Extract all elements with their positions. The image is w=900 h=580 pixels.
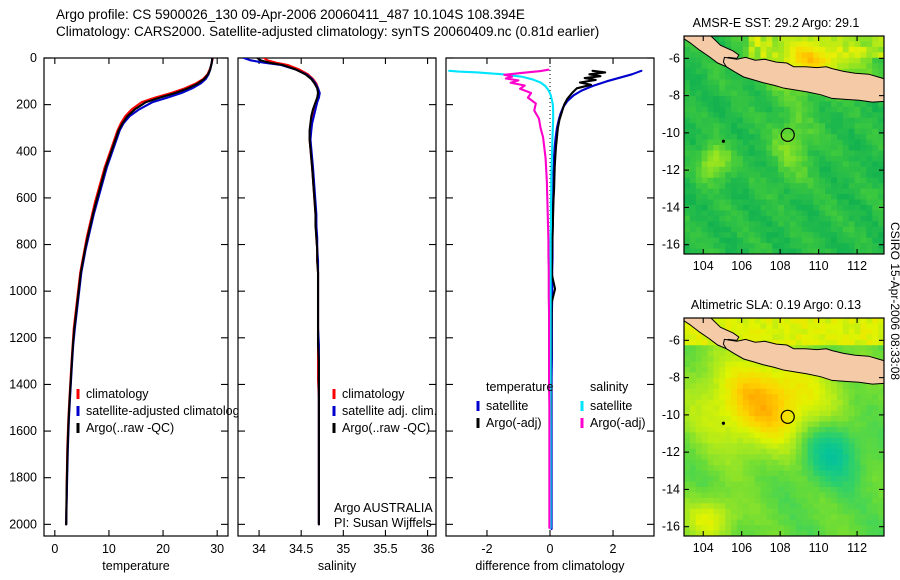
field-cell xyxy=(772,216,778,222)
field-cell xyxy=(872,323,878,329)
field-cell xyxy=(808,58,814,64)
field-cell xyxy=(760,41,766,47)
field-cell xyxy=(766,227,772,233)
field-cell xyxy=(860,416,866,422)
field-cell xyxy=(702,389,708,395)
field-cell xyxy=(708,454,714,460)
field-cell xyxy=(760,520,766,526)
field-cell xyxy=(778,525,784,531)
field-cell xyxy=(684,69,690,75)
field-cell xyxy=(696,422,702,428)
field-cell xyxy=(790,465,796,471)
field-cell xyxy=(708,194,714,200)
field-cell xyxy=(708,373,714,379)
field-cell xyxy=(708,145,714,151)
field-cell xyxy=(860,394,866,400)
field-cell xyxy=(872,416,878,422)
field-cell xyxy=(743,41,749,47)
map-y-tick-label: -14 xyxy=(662,482,680,496)
field-cell xyxy=(772,525,778,531)
field-cell xyxy=(849,134,855,140)
field-cell xyxy=(831,101,837,107)
field-cell xyxy=(749,514,755,520)
field-cell xyxy=(866,36,872,42)
field-cell xyxy=(725,492,731,498)
field-cell xyxy=(719,383,725,389)
field-cell xyxy=(755,52,761,58)
field-cell xyxy=(713,140,719,146)
field-cell xyxy=(690,378,696,384)
field-cell xyxy=(696,416,702,422)
field-cell xyxy=(743,405,749,411)
field-cell xyxy=(849,432,855,438)
field-cell xyxy=(860,427,866,433)
field-cell xyxy=(855,334,861,340)
field-cell xyxy=(872,167,878,173)
field-cell xyxy=(813,416,819,422)
field-cell xyxy=(737,91,743,97)
field-cell xyxy=(849,318,855,324)
field-cell xyxy=(702,91,708,97)
field-cell xyxy=(749,503,755,509)
field-cell xyxy=(731,145,737,151)
field-cell xyxy=(760,221,766,227)
field-cell xyxy=(872,443,878,449)
field-cell xyxy=(731,476,737,482)
field-cell xyxy=(831,422,837,428)
field-cell xyxy=(808,232,814,238)
field-cell xyxy=(749,323,755,329)
x-axis-label: temperature xyxy=(102,559,169,573)
field-cell xyxy=(737,383,743,389)
field-cell xyxy=(849,427,855,433)
field-cell xyxy=(731,465,737,471)
field-cell xyxy=(690,362,696,368)
field-cell xyxy=(855,210,861,216)
field-cell xyxy=(855,41,861,47)
field-cell xyxy=(796,323,802,329)
field-cell xyxy=(866,63,872,69)
field-cell xyxy=(766,422,772,428)
field-cell xyxy=(825,416,831,422)
field-cell xyxy=(819,145,825,151)
field-cell xyxy=(802,427,808,433)
field-cell xyxy=(719,443,725,449)
field-cell xyxy=(849,194,855,200)
field-cell xyxy=(731,227,737,233)
field-cell xyxy=(743,443,749,449)
field-cell xyxy=(690,449,696,455)
field-cell xyxy=(831,323,837,329)
field-cell xyxy=(831,118,837,124)
field-cell xyxy=(849,47,855,53)
field-cell xyxy=(743,449,749,455)
field-cell xyxy=(825,232,831,238)
field-cell xyxy=(813,189,819,195)
field-cell xyxy=(819,432,825,438)
field-cell xyxy=(825,520,831,526)
field-cell xyxy=(696,476,702,482)
field-cell xyxy=(860,411,866,417)
field-cell xyxy=(702,487,708,493)
field-cell xyxy=(731,323,737,329)
field-cell xyxy=(719,487,725,493)
field-cell xyxy=(778,449,784,455)
field-cell xyxy=(784,183,790,189)
field-cell xyxy=(872,465,878,471)
field-cell xyxy=(837,329,843,335)
field-cell xyxy=(749,161,755,167)
field-cell xyxy=(837,210,843,216)
field-cell xyxy=(737,96,743,102)
field-cell xyxy=(755,422,761,428)
field-cell xyxy=(731,123,737,129)
field-cell xyxy=(872,200,878,206)
field-cell xyxy=(802,416,808,422)
field-cell xyxy=(708,210,714,216)
field-cell xyxy=(796,460,802,466)
field-cell xyxy=(725,367,731,373)
field-cell xyxy=(831,334,837,340)
field-cell xyxy=(731,36,737,42)
field-cell xyxy=(831,161,837,167)
field-cell xyxy=(872,400,878,406)
field-cell xyxy=(808,318,814,324)
field-cell xyxy=(831,178,837,184)
field-cell xyxy=(737,232,743,238)
field-cell xyxy=(819,140,825,146)
field-cell xyxy=(725,454,731,460)
field-cell xyxy=(760,47,766,53)
field-cell xyxy=(731,41,737,47)
field-cell xyxy=(802,150,808,156)
field-cell xyxy=(849,514,855,520)
field-cell xyxy=(743,416,749,422)
field-cell xyxy=(790,232,796,238)
field-cell xyxy=(737,85,743,91)
field-cell xyxy=(843,514,849,520)
field-cell xyxy=(813,205,819,211)
field-cell xyxy=(702,460,708,466)
field-cell xyxy=(719,482,725,488)
field-cell xyxy=(708,356,714,362)
field-cell xyxy=(743,378,749,384)
field-cell xyxy=(708,482,714,488)
field-cell xyxy=(708,129,714,135)
field-cell xyxy=(784,329,790,335)
field-cell xyxy=(749,465,755,471)
field-cell xyxy=(778,487,784,493)
field-cell xyxy=(784,400,790,406)
field-cell xyxy=(796,340,802,346)
field-cell xyxy=(737,178,743,184)
field-cell xyxy=(702,96,708,102)
field-cell xyxy=(784,525,790,531)
field-cell xyxy=(860,389,866,395)
field-cell xyxy=(849,200,855,206)
field-cell xyxy=(796,140,802,146)
field-cell xyxy=(778,221,784,227)
field-cell xyxy=(784,205,790,211)
field-cell xyxy=(772,378,778,384)
field-cell xyxy=(690,112,696,118)
field-cell xyxy=(690,232,696,238)
field-cell xyxy=(749,318,755,324)
field-cell xyxy=(837,383,843,389)
field-cell xyxy=(802,476,808,482)
field-cell xyxy=(866,460,872,466)
field-cell xyxy=(843,58,849,64)
field-cell xyxy=(790,482,796,488)
field-cell xyxy=(731,394,737,400)
field-cell xyxy=(784,394,790,400)
field-cell xyxy=(696,383,702,389)
field-cell xyxy=(690,47,696,53)
field-cell xyxy=(860,156,866,162)
field-cell xyxy=(766,210,772,216)
field-cell xyxy=(808,378,814,384)
field-cell xyxy=(837,238,843,244)
field-cell xyxy=(837,221,843,227)
field-cell xyxy=(843,334,849,340)
field-cell xyxy=(866,422,872,428)
field-cell xyxy=(766,118,772,124)
field-cell xyxy=(843,345,849,351)
field-cell xyxy=(690,161,696,167)
field-cell xyxy=(725,471,731,477)
field-cell xyxy=(684,427,690,433)
field-cell xyxy=(766,200,772,206)
field-cell xyxy=(737,373,743,379)
field-cell xyxy=(784,503,790,509)
field-cell xyxy=(790,498,796,504)
field-cell xyxy=(690,118,696,124)
field-cell xyxy=(825,405,831,411)
field-cell xyxy=(737,167,743,173)
x-axis-label: salinity xyxy=(318,559,357,573)
field-cell xyxy=(813,107,819,113)
field-cell xyxy=(808,243,814,249)
field-cell xyxy=(690,427,696,433)
field-cell xyxy=(690,498,696,504)
field-cell xyxy=(796,454,802,460)
field-cell xyxy=(684,227,690,233)
field-cell xyxy=(872,118,878,124)
field-cell xyxy=(760,476,766,482)
field-cell xyxy=(808,400,814,406)
field-cell xyxy=(725,112,731,118)
field-cell xyxy=(743,243,749,249)
field-cell xyxy=(837,432,843,438)
field-cell xyxy=(855,487,861,493)
field-cell xyxy=(766,487,772,493)
field-cell xyxy=(843,471,849,477)
field-cell xyxy=(866,112,872,118)
field-cell xyxy=(713,194,719,200)
field-cell xyxy=(719,150,725,156)
field-cell xyxy=(831,243,837,249)
field-cell xyxy=(772,118,778,124)
field-cell xyxy=(784,118,790,124)
field-cell xyxy=(843,503,849,509)
x-tick-label: 20 xyxy=(156,542,170,556)
field-cell xyxy=(837,101,843,107)
field-cell xyxy=(790,520,796,526)
field-cell xyxy=(749,454,755,460)
field-cell xyxy=(731,107,737,113)
field-cell xyxy=(772,334,778,340)
field-cell xyxy=(796,232,802,238)
field-cell xyxy=(790,334,796,340)
field-cell xyxy=(696,183,702,189)
field-cell xyxy=(819,172,825,178)
x-axis-label: difference from climatology xyxy=(475,559,625,573)
field-cell xyxy=(690,492,696,498)
field-cell xyxy=(866,400,872,406)
field-cell xyxy=(772,41,778,47)
field-cell xyxy=(708,189,714,195)
field-cell xyxy=(702,150,708,156)
field-cell xyxy=(872,112,878,118)
field-cell xyxy=(737,520,743,526)
field-cell xyxy=(831,221,837,227)
field-cell xyxy=(802,194,808,200)
field-cell xyxy=(837,178,843,184)
field-cell xyxy=(866,107,872,113)
field-cell xyxy=(696,367,702,373)
field-cell xyxy=(690,189,696,195)
field-cell xyxy=(684,221,690,227)
field-cell xyxy=(737,509,743,515)
field-cell xyxy=(696,112,702,118)
field-cell xyxy=(860,172,866,178)
field-cell xyxy=(713,183,719,189)
field-cell xyxy=(819,47,825,53)
field-cell xyxy=(802,405,808,411)
field-cell xyxy=(825,476,831,482)
field-cell xyxy=(860,210,866,216)
field-cell xyxy=(766,471,772,477)
field-cell xyxy=(731,96,737,102)
field-cell xyxy=(843,323,849,329)
field-cell xyxy=(719,178,725,184)
field-cell xyxy=(725,400,731,406)
field-cell xyxy=(713,156,719,162)
map-y-tick-label: -14 xyxy=(662,200,680,214)
field-cell xyxy=(766,416,772,422)
x-tick-label: 0 xyxy=(547,542,554,556)
field-cell xyxy=(837,318,843,324)
field-cell xyxy=(708,411,714,417)
field-cell xyxy=(778,183,784,189)
field-cell xyxy=(843,145,849,151)
field-cell xyxy=(778,323,784,329)
field-cell xyxy=(684,96,690,102)
field-cell xyxy=(760,383,766,389)
field-cell xyxy=(860,118,866,124)
map-y-tick-label: -12 xyxy=(662,163,680,177)
y-tick-label: 200 xyxy=(16,98,37,112)
field-cell xyxy=(808,432,814,438)
field-cell xyxy=(755,443,761,449)
field-cell xyxy=(831,525,837,531)
field-cell xyxy=(825,411,831,417)
field-cell xyxy=(796,238,802,244)
field-cell xyxy=(778,150,784,156)
field-cell xyxy=(696,503,702,509)
field-cell xyxy=(719,227,725,233)
field-cell xyxy=(708,351,714,357)
field-cell xyxy=(872,194,878,200)
field-cell xyxy=(790,52,796,58)
field-cell xyxy=(831,52,837,58)
field-cell xyxy=(749,400,755,406)
field-cell xyxy=(772,129,778,135)
field-cell xyxy=(813,460,819,466)
field-cell xyxy=(690,80,696,86)
field-cell xyxy=(749,411,755,417)
field-cell xyxy=(702,167,708,173)
field-cell xyxy=(843,205,849,211)
field-cell xyxy=(713,367,719,373)
field-cell xyxy=(743,118,749,124)
field-cell xyxy=(825,221,831,227)
field-cell xyxy=(796,476,802,482)
field-cell xyxy=(713,476,719,482)
field-cell xyxy=(766,482,772,488)
field-cell xyxy=(866,329,872,335)
field-cell xyxy=(713,112,719,118)
field-cell xyxy=(731,498,737,504)
field-cell xyxy=(743,221,749,227)
field-cell xyxy=(860,194,866,200)
field-cell xyxy=(696,525,702,531)
field-cell xyxy=(843,492,849,498)
field-cell xyxy=(790,405,796,411)
field-cell xyxy=(713,69,719,75)
field-cell xyxy=(784,194,790,200)
y-tick-label: 1200 xyxy=(9,331,37,345)
island-dot xyxy=(722,422,725,425)
field-cell xyxy=(725,107,731,113)
field-cell xyxy=(808,161,814,167)
field-cell xyxy=(713,438,719,444)
field-cell xyxy=(825,422,831,428)
field-cell xyxy=(825,323,831,329)
field-cell xyxy=(802,189,808,195)
field-cell xyxy=(725,172,731,178)
field-cell xyxy=(872,150,878,156)
field-cell xyxy=(713,227,719,233)
field-cell xyxy=(690,443,696,449)
field-cell xyxy=(684,63,690,69)
field-cell xyxy=(743,112,749,118)
field-cell xyxy=(831,443,837,449)
field-cell xyxy=(708,378,714,384)
field-cell xyxy=(872,334,878,340)
field-cell xyxy=(866,178,872,184)
field-cell xyxy=(719,91,725,97)
field-cell xyxy=(831,383,837,389)
field-cell xyxy=(743,427,749,433)
field-cell xyxy=(702,438,708,444)
field-cell xyxy=(690,238,696,244)
field-cell xyxy=(772,150,778,156)
field-cell xyxy=(813,449,819,455)
field-cell xyxy=(702,194,708,200)
field-cell xyxy=(860,443,866,449)
field-cell xyxy=(708,156,714,162)
